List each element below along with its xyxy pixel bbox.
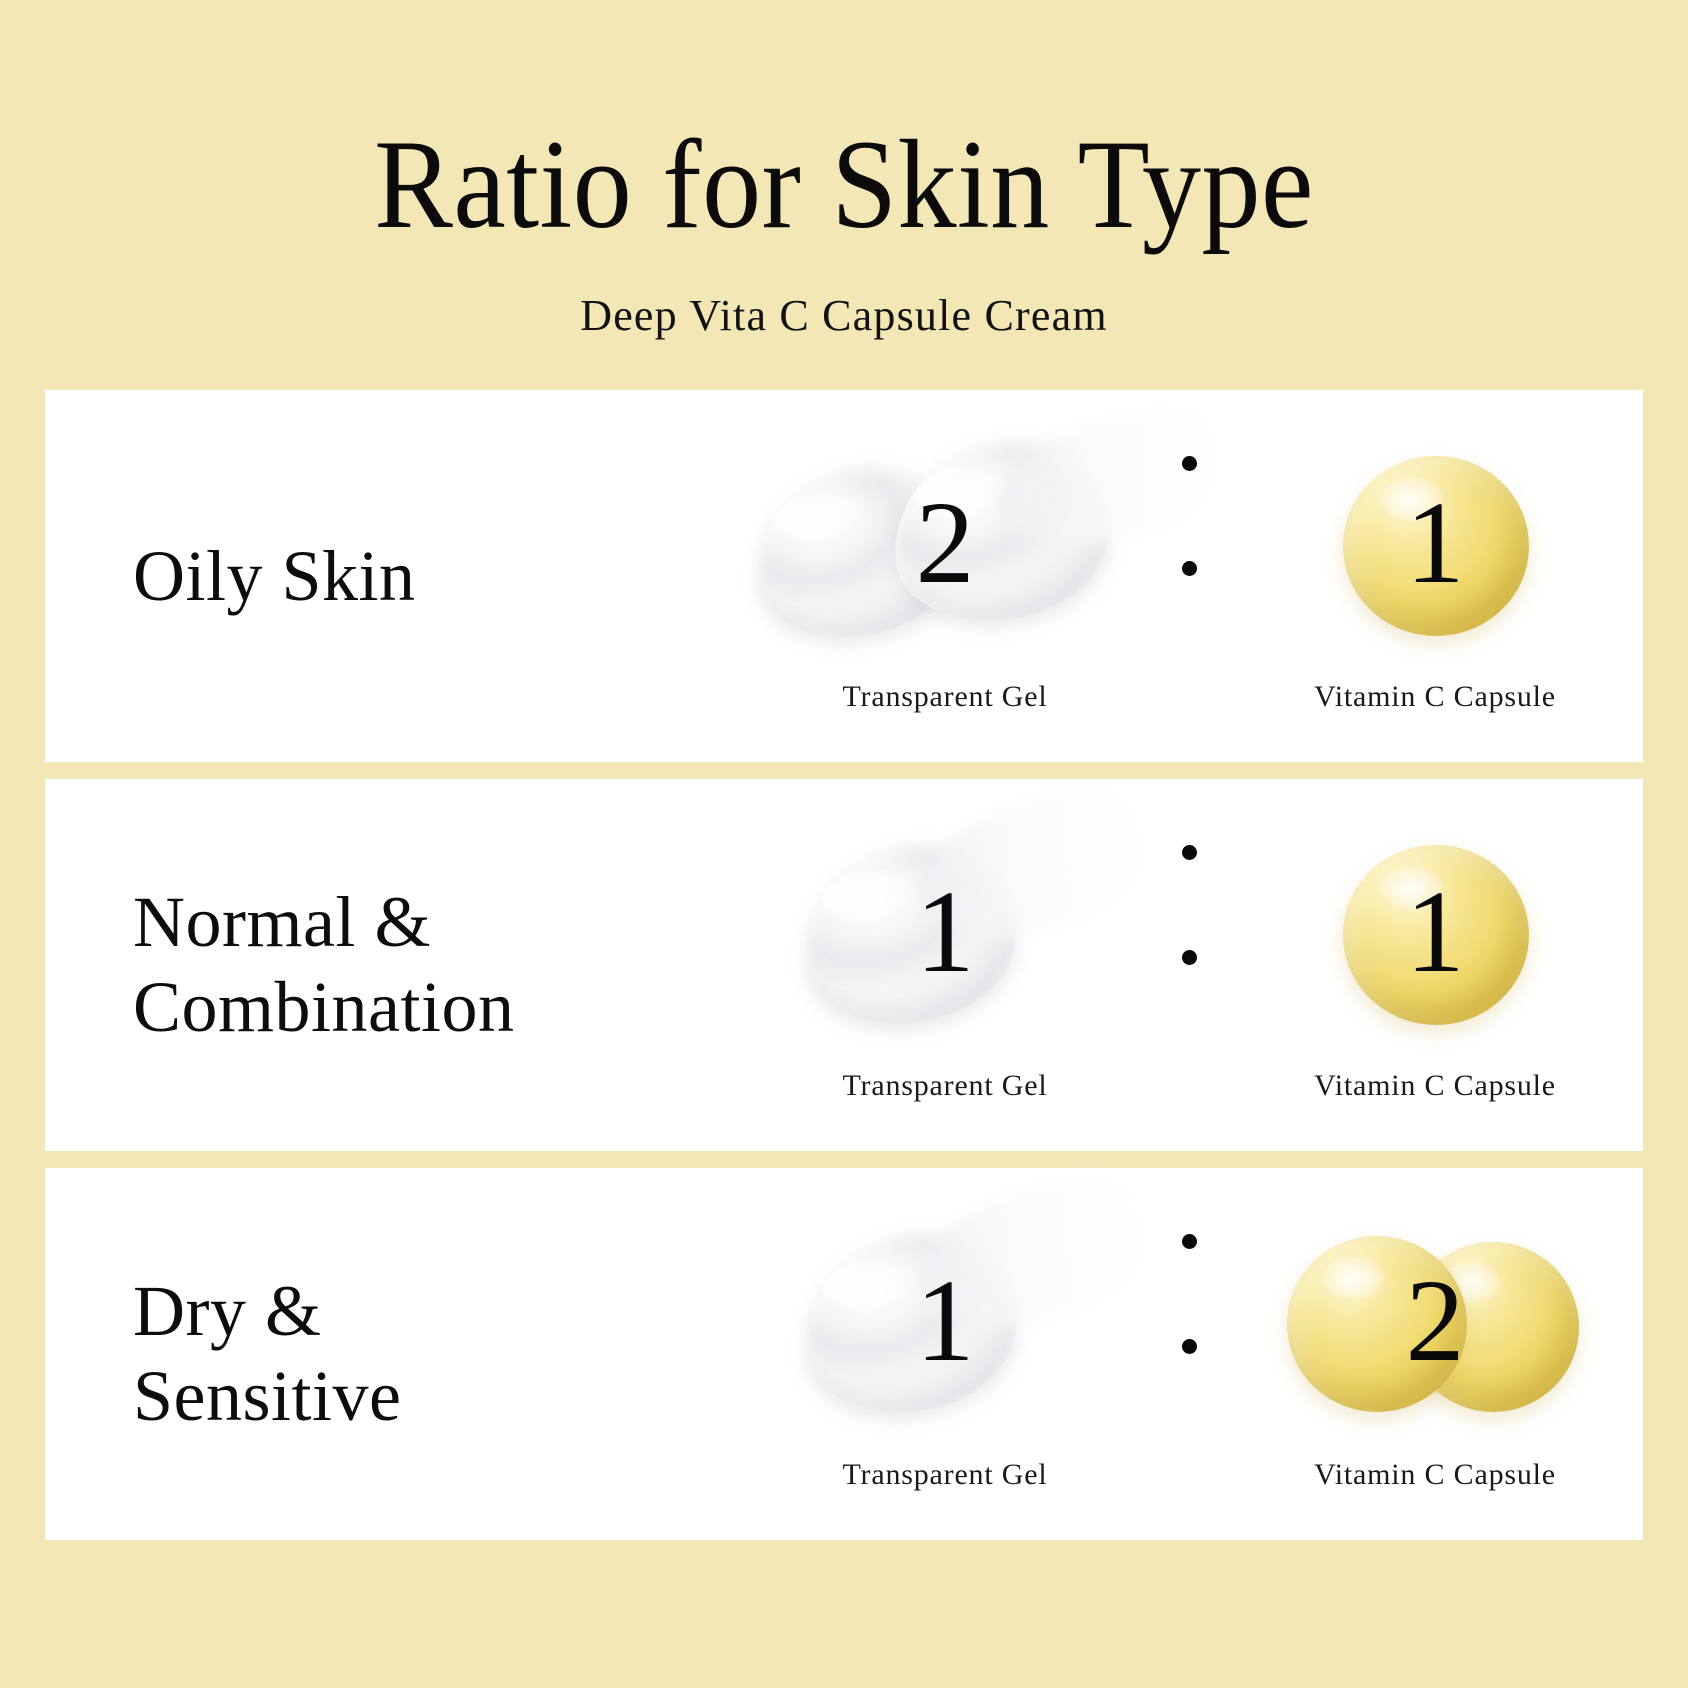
skin-type-label: Dry & Sensitive [45, 1269, 605, 1439]
header: Ratio for Skin Type Deep Vita C Capsule … [0, 0, 1688, 390]
capsule-visual: 1 [1225, 418, 1645, 668]
ratio-rows: Oily Skin 2 Transparent Gel [45, 390, 1643, 1540]
gel-amount: 1 [916, 873, 975, 991]
ratio-area: 2 Transparent Gel 1 Vitamin C Caps [605, 390, 1643, 762]
skin-type-label: Normal & Combination [45, 880, 605, 1050]
skin-type-label: Oily Skin [45, 534, 605, 619]
colon-dot-icon [1182, 561, 1197, 576]
gel-column: 2 Transparent Gel [725, 418, 1165, 714]
capsule-column: 1 Vitamin C Capsule [1225, 807, 1645, 1103]
ratio-row-dry-sensitive: Dry & Sensitive 1 Transparent Gel [45, 1168, 1643, 1540]
capsule-amount: 1 [1406, 873, 1465, 991]
gel-caption: Transparent Gel [842, 1458, 1047, 1492]
gel-blob-icon [793, 1220, 1025, 1424]
ratio-row-normal-combination: Normal & Combination 1 Transparent Gel [45, 779, 1643, 1151]
colon-dot-icon [1182, 456, 1197, 471]
ratio-area: 1 Transparent Gel 2 [605, 1168, 1643, 1540]
gel-visual: 1 [725, 1196, 1165, 1446]
ratio-row-oily-skin: Oily Skin 2 Transparent Gel [45, 390, 1643, 762]
capsule-caption: Vitamin C Capsule [1314, 1069, 1556, 1103]
gel-column: 1 Transparent Gel [725, 1196, 1165, 1492]
gel-amount: 2 [916, 484, 975, 602]
gel-blob-icon [793, 831, 1025, 1035]
capsule-caption: Vitamin C Capsule [1314, 1458, 1556, 1492]
ratio-colon [1169, 456, 1209, 576]
infographic-page: Ratio for Skin Type Deep Vita C Capsule … [0, 0, 1688, 1688]
ratio-area: 1 Transparent Gel 1 Vitamin C Caps [605, 779, 1643, 1151]
page-title: Ratio for Skin Type [374, 120, 1314, 250]
capsule-visual: 1 [1225, 807, 1645, 1057]
ratio-colon [1169, 1234, 1209, 1354]
ratio-colon [1169, 845, 1209, 965]
colon-dot-icon [1182, 950, 1197, 965]
capsule-column: 1 Vitamin C Capsule [1225, 418, 1645, 714]
capsule-column: 2 Vitamin C Capsule [1225, 1196, 1645, 1492]
capsule-amount: 2 [1406, 1262, 1465, 1380]
page-subtitle: Deep Vita C Capsule Cream [580, 290, 1108, 341]
capsule-amount: 1 [1406, 484, 1465, 602]
gel-amount: 1 [916, 1262, 975, 1380]
colon-dot-icon [1182, 1339, 1197, 1354]
gel-column: 1 Transparent Gel [725, 807, 1165, 1103]
gel-visual: 1 [725, 807, 1165, 1057]
capsule-caption: Vitamin C Capsule [1314, 680, 1556, 714]
gel-caption: Transparent Gel [842, 1069, 1047, 1103]
capsule-visual: 2 [1225, 1196, 1645, 1446]
colon-dot-icon [1182, 845, 1197, 860]
gel-caption: Transparent Gel [842, 680, 1047, 714]
colon-dot-icon [1182, 1234, 1197, 1249]
gel-visual: 2 [725, 418, 1165, 668]
